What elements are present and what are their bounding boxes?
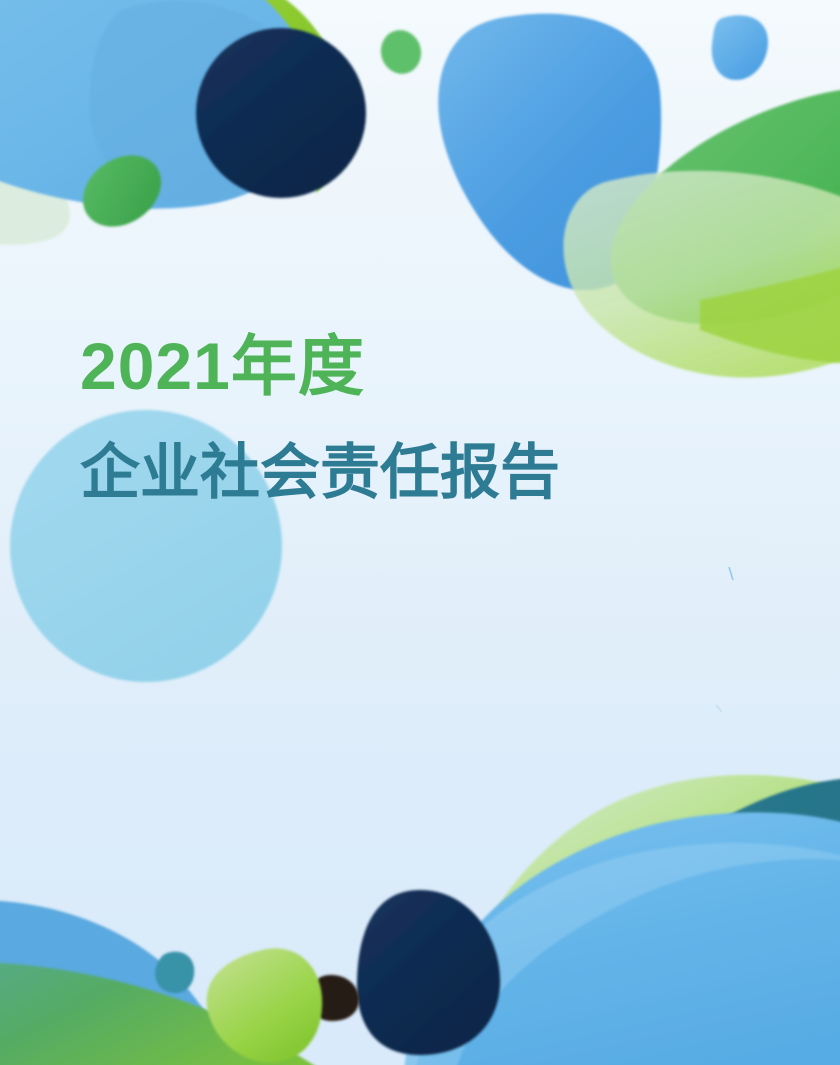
speck-mark-lower — [716, 705, 722, 712]
teal-dot — [155, 952, 194, 993]
bottom-left-decoration-group — [0, 900, 350, 1065]
cover-title-main: 企业社会责任报告 — [80, 436, 700, 510]
navy-egg — [357, 890, 500, 1055]
speck-mark-upper — [729, 567, 733, 580]
bottom-right-decoration-group — [310, 775, 840, 1065]
top-left-decoration-group — [0, 0, 426, 245]
report-cover-page: 2021年度 企业社会责任报告 — [0, 0, 840, 1065]
blue-teardrop-small — [712, 15, 768, 80]
top-right-decoration-group — [438, 14, 840, 378]
cover-title-year: 2021年度 — [80, 328, 700, 404]
green-dot — [376, 26, 426, 79]
decorative-artwork — [0, 0, 840, 1065]
cover-title-block: 2021年度 企业社会责任报告 — [80, 328, 700, 510]
navy-circle — [196, 28, 366, 198]
